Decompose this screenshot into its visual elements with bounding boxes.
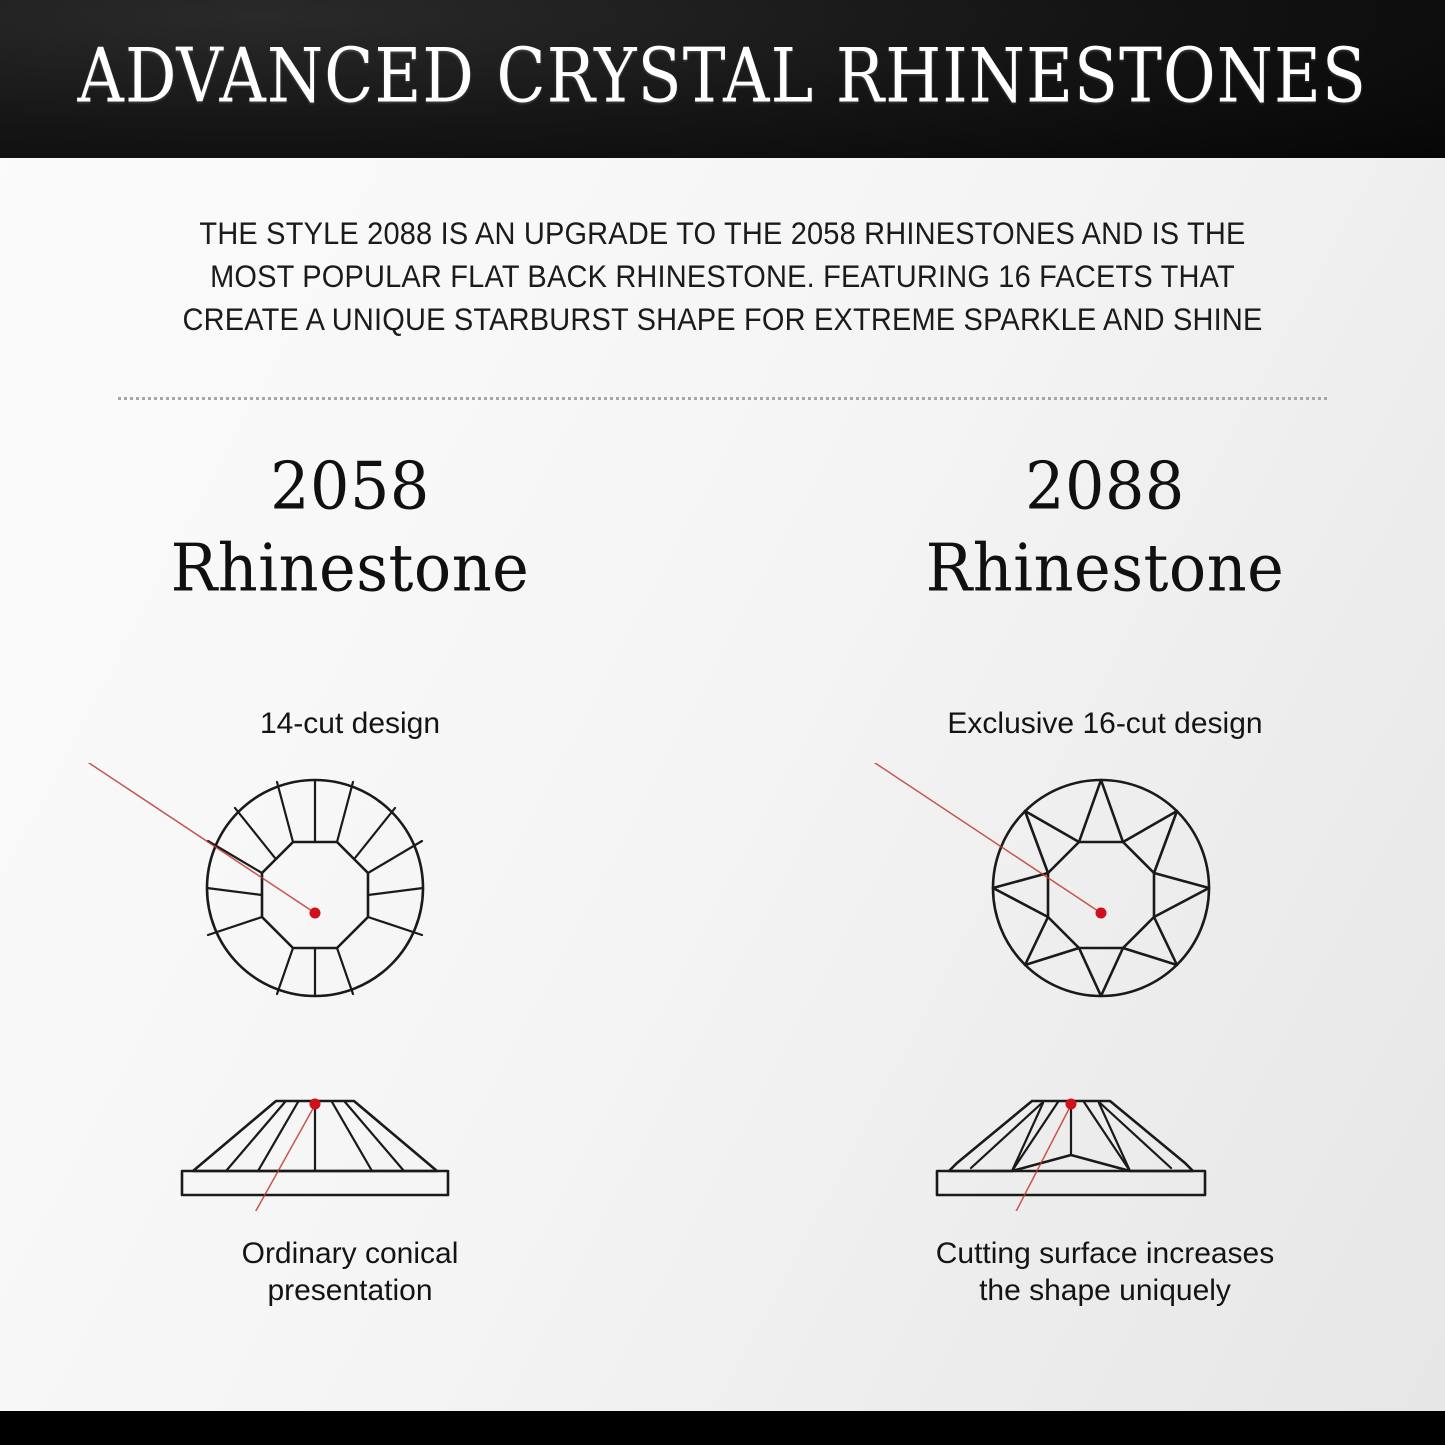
rhinestone-2058-top-view-svg bbox=[30, 763, 670, 1013]
column-2088-title-word: Rhinestone bbox=[785, 535, 1425, 601]
infographic-page: ADVANCED CRYSTAL RHINESTONES THE STYLE 2… bbox=[0, 0, 1445, 1445]
annotation-14-cut-design: 14-cut design bbox=[30, 707, 670, 741]
column-2058-title: 2058 Rhinestone bbox=[30, 455, 670, 599]
intro-line-2: MOST POPULAR FLAT BACK RHINESTONE. FEATU… bbox=[159, 255, 1286, 298]
annotation-right-bottom-line-2: the shape uniquely bbox=[785, 1272, 1425, 1309]
annotation-right-bottom-line-1: Cutting surface increases bbox=[785, 1235, 1425, 1272]
rhinestone-2088-side-view-svg bbox=[785, 1083, 1425, 1211]
marker-dot-2088-top bbox=[1096, 908, 1107, 919]
marker-dot-2058-side bbox=[310, 1099, 321, 1110]
header-banner: ADVANCED CRYSTAL RHINESTONES bbox=[0, 0, 1445, 158]
marker-dot-2088-side bbox=[1066, 1099, 1077, 1110]
column-2058-title-number: 2058 bbox=[30, 453, 670, 519]
dotted-divider bbox=[118, 397, 1327, 400]
diagram-2088-top-view bbox=[785, 763, 1425, 1013]
column-2088-title-number: 2088 bbox=[785, 453, 1425, 519]
marker-dot-2058-top bbox=[310, 908, 321, 919]
intro-line-1: THE STYLE 2088 IS AN UPGRADE TO THE 2058… bbox=[159, 212, 1286, 255]
diagram-2058-top-view bbox=[30, 763, 670, 1013]
column-2058-title-word: Rhinestone bbox=[30, 535, 670, 601]
intro-paragraph: THE STYLE 2088 IS AN UPGRADE TO THE 2058… bbox=[159, 212, 1286, 341]
annotation-ordinary-conical-presentation: Ordinary conical presentation bbox=[30, 1235, 670, 1309]
annotation-exclusive-16-cut-design: Exclusive 16-cut design bbox=[785, 707, 1425, 741]
rhinestone-2058-side-view-svg bbox=[30, 1083, 670, 1211]
column-2088-title: 2088 Rhinestone bbox=[785, 455, 1425, 599]
column-2058: 2058 Rhinestone 14-cut design bbox=[30, 455, 670, 1309]
column-2088: 2088 Rhinestone Exclusive 16-cut design bbox=[785, 455, 1425, 1309]
diagram-2088-side-view bbox=[785, 1083, 1425, 1211]
diagram-2058-side-view bbox=[30, 1083, 670, 1211]
intro-line-3: CREATE A UNIQUE STARBURST SHAPE FOR EXTR… bbox=[159, 298, 1286, 341]
rhinestone-2088-top-view-svg bbox=[785, 763, 1425, 1013]
footer-bar bbox=[0, 1411, 1445, 1445]
annotation-left-bottom-line-1: Ordinary conical bbox=[30, 1235, 670, 1272]
annotation-cutting-surface-increases: Cutting surface increases the shape uniq… bbox=[785, 1235, 1425, 1309]
page-title: ADVANCED CRYSTAL RHINESTONES bbox=[78, 34, 1368, 125]
annotation-left-bottom-line-2: presentation bbox=[30, 1272, 670, 1309]
